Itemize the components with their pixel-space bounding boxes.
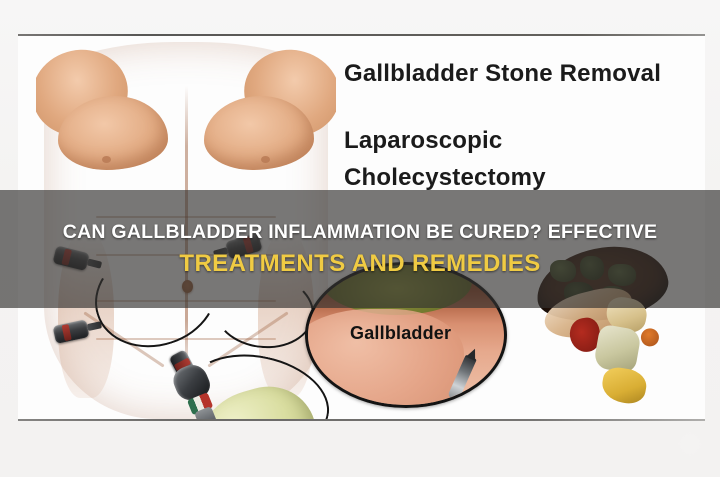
heading-primary: Gallbladder Stone Removal: [344, 62, 694, 86]
nipple-left: [102, 156, 111, 163]
heading-secondary-line2: Cholecystectomy: [344, 166, 694, 190]
screenshot-canvas: Gallbladder Stone Removal Laparoscopic C…: [0, 0, 720, 477]
gallstone-8: [600, 365, 649, 406]
gallbladder-label: Gallbladder: [350, 323, 451, 344]
caption-line-1: CAN GALLBLADDER INFLAMMATION BE CURED? E…: [63, 221, 657, 244]
heading-secondary-line1: Laparoscopic: [344, 129, 694, 153]
caption-text-group: CAN GALLBLADDER INFLAMMATION BE CURED? E…: [0, 190, 720, 308]
spilled-stones-group: [585, 294, 684, 413]
divider-rule-top: [18, 34, 705, 36]
watermark-logo-icon: [681, 435, 699, 453]
caption-line-2: TREATMENTS AND REMEDIES: [179, 250, 540, 278]
heading-group: Gallbladder Stone Removal Laparoscopic C…: [344, 62, 694, 190]
nipple-right: [261, 156, 270, 163]
divider-rule-bottom: [18, 419, 705, 421]
gallstone-9: [640, 327, 661, 348]
watermark: [681, 435, 704, 453]
